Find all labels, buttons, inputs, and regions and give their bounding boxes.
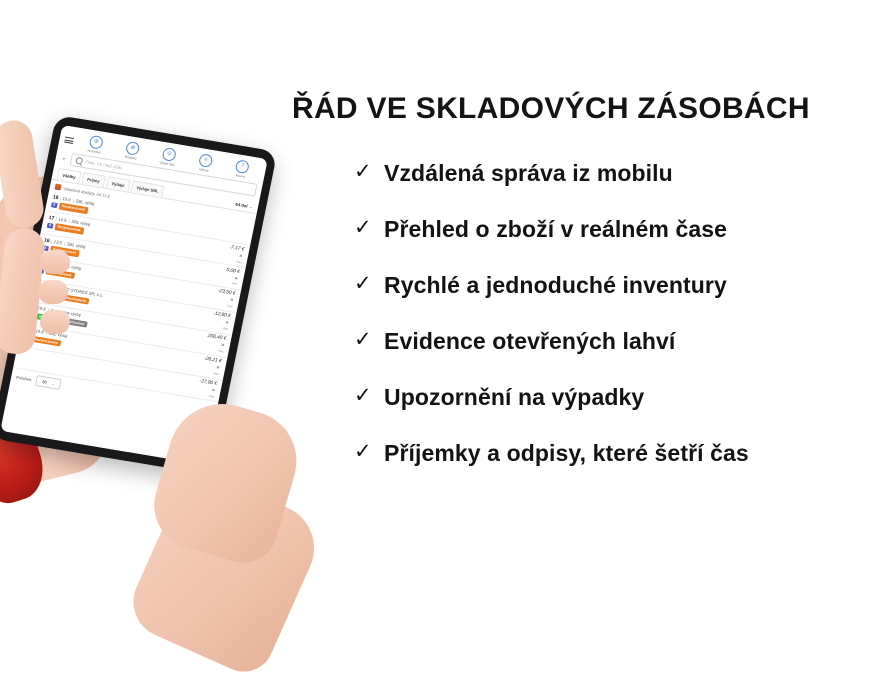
row-amount: -26,21 € xyxy=(204,357,222,365)
chevron-double-right-icon: » xyxy=(220,343,223,349)
row-number: 16 xyxy=(44,237,51,244)
row-type-square: S xyxy=(47,222,54,228)
chevron-double-right-icon: » xyxy=(229,298,232,304)
marketing-copy: ŘÁD VE SKLADOVÝCH ZÁSOBÁCH ✓ Vzdálená sp… xyxy=(292,92,872,468)
more-label: Viac xyxy=(222,326,228,331)
fingertip xyxy=(40,250,70,274)
row-amount: -27,00 € xyxy=(199,379,217,387)
list-item-label: Upozornění na výpadky xyxy=(384,383,644,412)
page-size-value: 30 xyxy=(42,379,48,385)
tablet-in-hands-photo: ⊛ Inventúry ⊕ Rozbory ⊙ Výkaz SBL ≡ xyxy=(0,120,330,598)
row-number: 17 xyxy=(48,215,55,222)
nav-label: Nákup xyxy=(199,167,209,172)
row-right: 0,00 € » Viac xyxy=(220,267,240,286)
more-label: Viac xyxy=(231,282,237,287)
page-size-label: Položiek: xyxy=(16,375,33,383)
poster-canvas: ⊛ Inventúry ⊕ Rozbory ⊙ Výkaz SBL ≡ xyxy=(0,0,889,598)
row-date: 13.9. xyxy=(53,239,63,245)
more-label: Viac xyxy=(227,304,233,309)
row-label: SBL výdaj xyxy=(67,241,87,249)
list-item-label: Přehled o zboží v reálném čase xyxy=(384,215,727,244)
nav-item-inventury[interactable]: ⊛ Inventúry xyxy=(81,134,110,156)
nav-item-rozbory[interactable]: ⊕ Rozbory xyxy=(118,140,147,162)
page-size-select[interactable]: 30 ⌄ xyxy=(35,375,62,390)
row-more-button[interactable]: » Viac xyxy=(218,343,225,354)
feature-list: ✓ Vzdálená správa iz mobilu ✓ Přehled o … xyxy=(292,159,872,468)
row-right: -27,00 € » Viac xyxy=(193,378,218,398)
day-filter-label: 64 dní xyxy=(235,202,248,209)
fingertip xyxy=(40,310,70,334)
row-more-button[interactable]: » Viac xyxy=(236,253,243,264)
help-icon: ? xyxy=(235,159,250,174)
list-item-label: Příjemky a odpisy, které šetří čas xyxy=(384,439,749,468)
row-amount: 0,00 € xyxy=(226,268,240,275)
row-number: 18 xyxy=(52,194,59,201)
row-more-button[interactable]: » Viac xyxy=(209,388,216,399)
search-placeholder: Číslo, VS / Ref. číslo, xyxy=(85,159,123,170)
check-icon: ✓ xyxy=(354,215,378,241)
row-more-button[interactable]: » Viac xyxy=(227,298,234,309)
more-label: Viac xyxy=(218,349,224,354)
row-amount: -7,17 € xyxy=(229,245,245,252)
sbl-report-icon: ⊙ xyxy=(162,147,177,162)
nav-label: Návod xyxy=(235,173,245,178)
more-label: Viac xyxy=(236,259,242,264)
list-item: ✓ Upozornění na výpadky xyxy=(292,383,872,412)
list-item: ✓ Rychlé a jednoduché inventury xyxy=(292,271,872,300)
check-icon: ✓ xyxy=(354,327,378,353)
inventory-icon: ⊛ xyxy=(88,135,103,150)
row-date: 19.9. xyxy=(62,196,72,202)
more-label: Viac xyxy=(213,371,219,376)
nav-label: Výkaz SBL xyxy=(159,161,176,168)
hamburger-icon[interactable] xyxy=(64,135,75,146)
row-more-button[interactable]: » Viac xyxy=(222,321,229,332)
row-right: -12,60 € » Viac xyxy=(206,311,231,331)
row-right: -7,17 € » Viac xyxy=(223,244,245,264)
document-icon xyxy=(54,184,61,191)
list-item-label: Rychlé a jednoduché inventury xyxy=(384,271,727,300)
row-more-button[interactable]: » Viac xyxy=(231,276,238,287)
row-more-button[interactable]: » Viac xyxy=(213,365,220,376)
chevron-down-icon: ⌄ xyxy=(249,204,253,209)
search-icon xyxy=(75,157,83,165)
row-right: -26,21 € » Viac xyxy=(197,356,222,376)
more-label: Viac xyxy=(209,394,215,399)
list-item: ✓ Evidence otevřených lahví xyxy=(292,327,872,356)
fingertip xyxy=(38,280,68,304)
list-item-label: Evidence otevřených lahví xyxy=(384,327,675,356)
reports-icon: ⊕ xyxy=(125,141,140,156)
list-item-label: Vzdálená správa iz mobilu xyxy=(384,159,673,188)
nav-label: Rozbory xyxy=(124,155,137,161)
row-label: SBL výdaj xyxy=(71,218,91,226)
nav-label: Inventúry xyxy=(87,149,101,155)
page-title: ŘÁD VE SKLADOVÝCH ZÁSOBÁCH xyxy=(292,92,872,125)
check-icon: ✓ xyxy=(354,383,378,409)
row-amount: -12,60 € xyxy=(213,312,231,320)
row-type-square: S xyxy=(51,202,58,208)
row-label: SBL výdaj xyxy=(75,198,95,206)
chevron-double-down-icon[interactable]: ⌄ xyxy=(60,154,67,162)
nav-item-navod[interactable]: ? Návod xyxy=(227,158,256,180)
purchase-icon: ≡ xyxy=(198,153,213,168)
nav-item-vykaz-sbl[interactable]: ⊙ Výkaz SBL xyxy=(154,146,183,168)
row-amount: 200,40 € xyxy=(207,334,226,342)
row-amount: -23,50 € xyxy=(217,289,235,297)
chevron-down-icon: ⌄ xyxy=(51,382,55,386)
row-right: -23,50 € » Viac xyxy=(211,289,236,309)
list-item: ✓ Přehled o zboží v reálném čase xyxy=(292,215,872,244)
row-right: 200,40 € » Viac xyxy=(201,333,227,353)
row-date: 14.9. xyxy=(58,216,68,222)
check-icon: ✓ xyxy=(354,271,378,297)
check-icon: ✓ xyxy=(354,159,378,185)
check-icon: ✓ xyxy=(354,439,378,465)
list-item: ✓ Příjemky a odpisy, které šetří čas xyxy=(292,439,872,468)
nav-item-nakup[interactable]: ≡ Nákup xyxy=(191,152,220,174)
right-thumb xyxy=(0,118,46,231)
list-item: ✓ Vzdálená správa iz mobilu xyxy=(292,159,872,188)
